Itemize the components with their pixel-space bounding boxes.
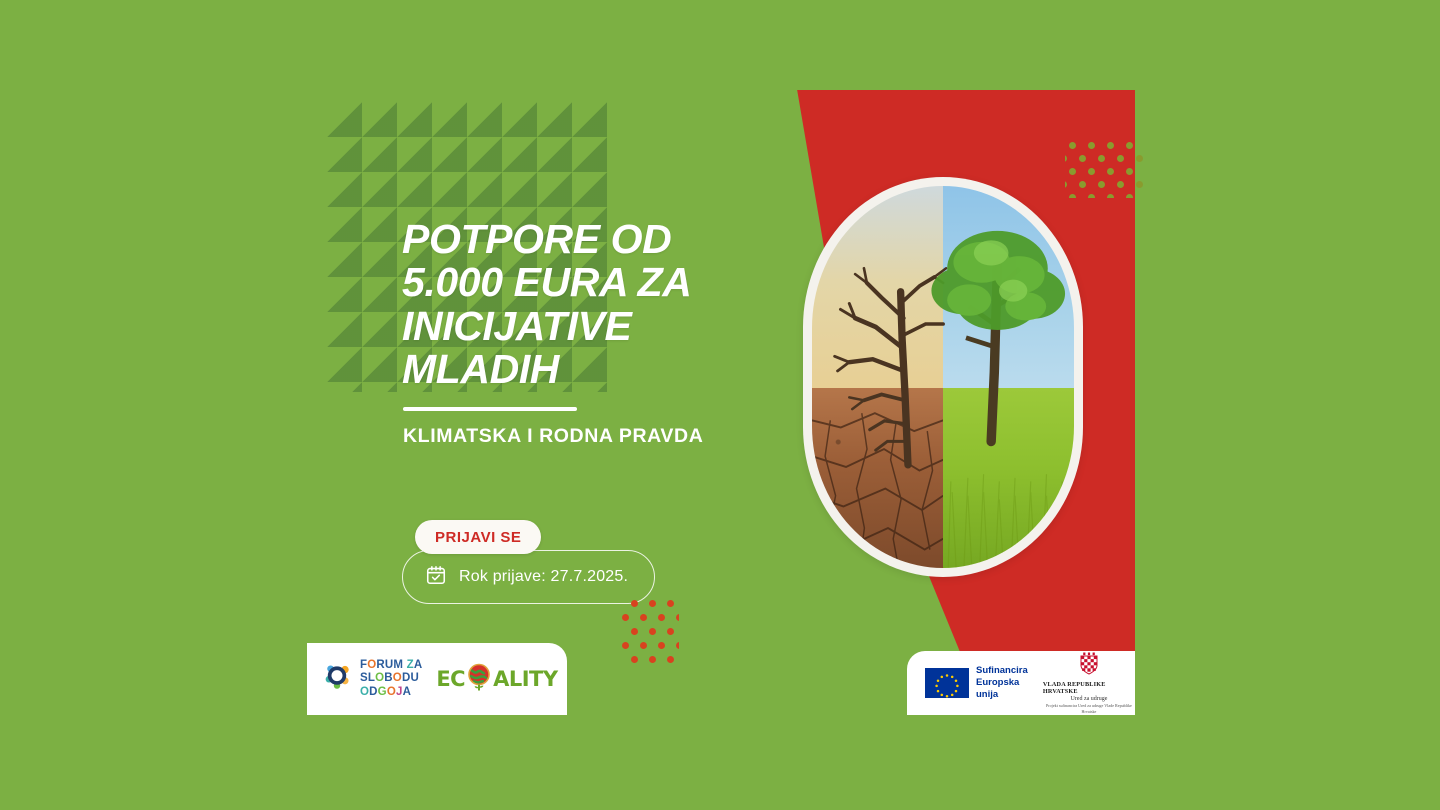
eu-line-1: Sufinancira xyxy=(976,665,1033,677)
poster-canvas: POTPORE OD 5.000 EURA ZA INICIJATIVE MLA… xyxy=(0,0,1440,810)
hero-photo-image xyxy=(812,186,1074,568)
forum-za-slobodu-odgoja-logo: FORUM ZA SLOBODU ODGOJA xyxy=(321,659,422,699)
deadline-label: Rok prijave: 27.7.2025. xyxy=(459,568,628,586)
eu-line-2: Europska unija xyxy=(976,677,1033,701)
funding-logo-bar: Sufinancira Europska unija xyxy=(907,651,1135,715)
photo-green-tree xyxy=(922,194,1074,469)
croatia-line-1: VLADA REPUBLIKE HRVATSKE xyxy=(1043,681,1135,695)
eu-flag-icon xyxy=(925,668,969,698)
ecoality-text-post: ALITY xyxy=(493,667,557,691)
croatia-line-3: Projekt sufinancira Ured za udruge Vlade… xyxy=(1043,703,1135,714)
headline-line-4: MLADIH xyxy=(402,348,742,391)
partner-logo-bar: FORUM ZA SLOBODU ODGOJA EC xyxy=(307,643,567,715)
globe-icon xyxy=(466,663,492,698)
apply-button[interactable]: PRIJAVI SE xyxy=(415,520,541,554)
eu-wordmark: Sufinancira Europska unija xyxy=(976,665,1033,701)
headline-line-3: INICIJATIVE xyxy=(402,305,742,348)
forum-circle-icon xyxy=(321,660,353,697)
european-union-logo: Sufinancira Europska unija xyxy=(925,665,1033,701)
divider xyxy=(403,407,577,411)
green-dot-grid-decoration xyxy=(1065,140,1149,198)
ecoality-text-pre: EC xyxy=(436,667,465,691)
government-of-croatia-logo: VLADA REPUBLIKE HRVATSKE Ured za udruge … xyxy=(1043,652,1135,714)
ecoality-logo: EC ALITY xyxy=(436,662,557,697)
hero-photo xyxy=(803,177,1083,577)
subtitle: KLIMATSKA I RODNA PRAVDA xyxy=(403,425,763,448)
croatia-line-2: Ured za udruge xyxy=(1070,696,1107,702)
forum-line-1: FORUM ZA xyxy=(360,659,422,672)
forum-line-3: ODGOJA xyxy=(360,686,422,699)
deadline-pill: Rok prijave: 27.7.2025. xyxy=(402,550,655,604)
headline-line-1: POTPORE OD xyxy=(402,218,742,261)
croatian-coat-of-arms-icon xyxy=(1079,652,1099,681)
red-dot-grid-decoration xyxy=(617,598,679,666)
calendar-check-icon xyxy=(425,564,447,591)
page-title: POTPORE OD 5.000 EURA ZA INICIJATIVE MLA… xyxy=(402,218,742,392)
headline-line-2: 5.000 EURA ZA xyxy=(402,261,742,304)
forum-wordmark: FORUM ZA SLOBODU ODGOJA xyxy=(360,659,422,699)
forum-line-2: SLOBODU xyxy=(360,672,422,685)
